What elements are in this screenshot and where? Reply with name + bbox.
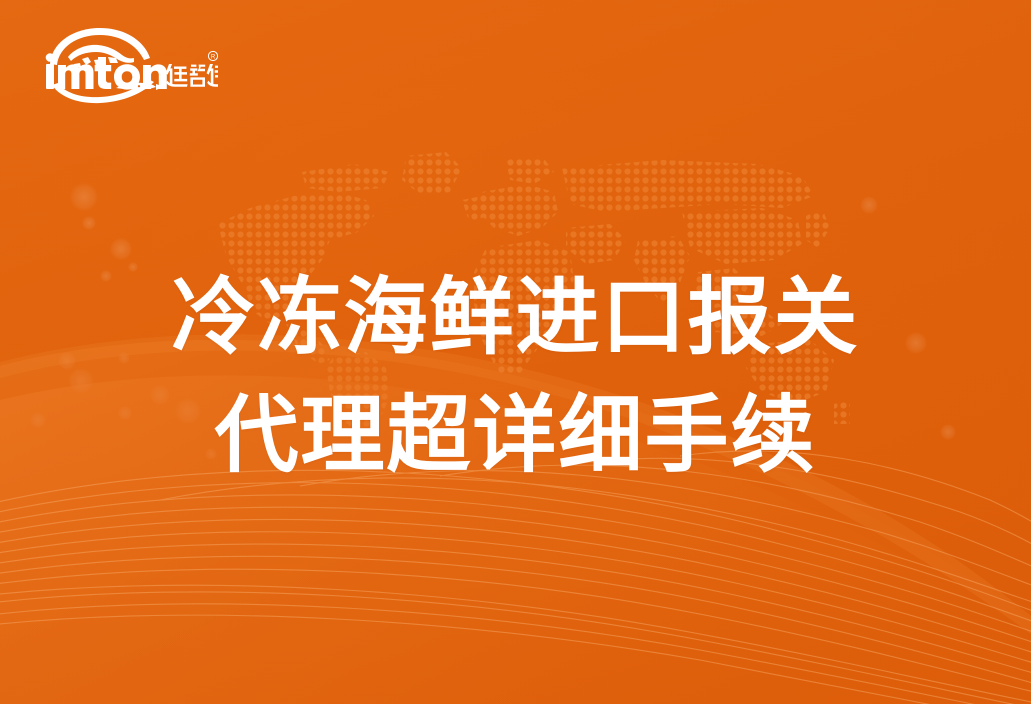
registered-trademark-icon: R — [208, 51, 217, 60]
headline-line-2: 代理超详细手续 — [0, 376, 1031, 494]
logo-chinese-name — [166, 64, 218, 87]
headline-block: 冷冻海鲜进口报关 代理超详细手续 — [0, 258, 1031, 494]
brand-logo[interactable]: R — [38, 24, 218, 104]
promo-banner: R 冷冻海鲜进口报关 代理超详细手续 — [0, 0, 1031, 704]
headline-line-1: 冷冻海鲜进口报关 — [0, 258, 1031, 376]
svg-text:R: R — [211, 55, 216, 61]
